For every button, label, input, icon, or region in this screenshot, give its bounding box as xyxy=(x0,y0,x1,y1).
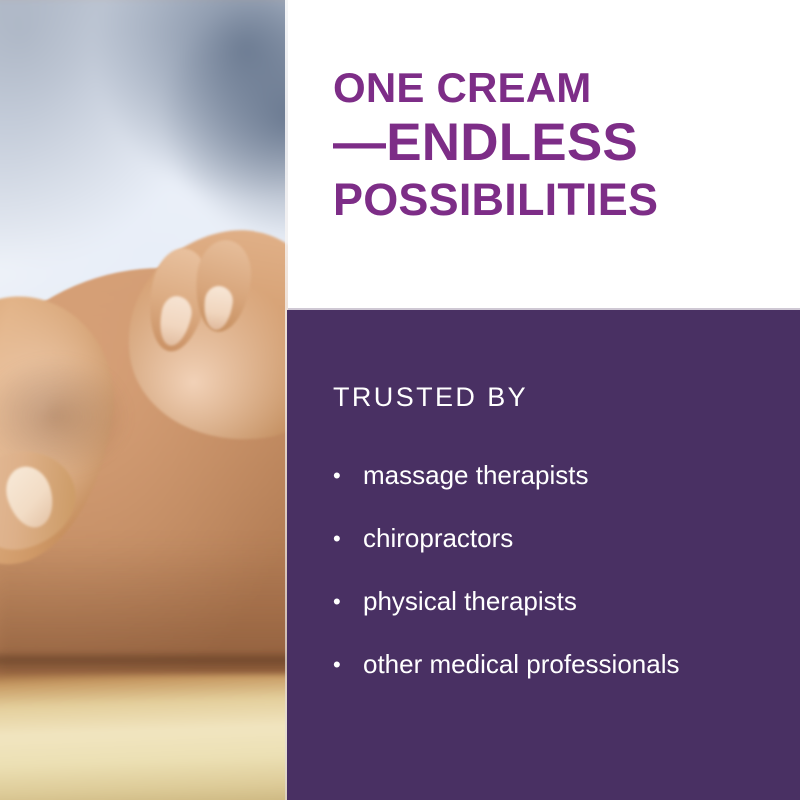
trusted-by-panel: TRUSTED BY • massage therapists • chirop… xyxy=(287,310,800,800)
bullet-icon: • xyxy=(333,591,363,613)
page-title: ONE CREAM —ENDLESS POSSIBILITIES xyxy=(333,64,763,226)
headline-line-1: ONE CREAM xyxy=(333,64,763,112)
list-item: • massage therapists xyxy=(333,444,783,507)
trusted-by-list: • massage therapists • chiropractors • p… xyxy=(333,444,783,696)
bullet-icon: • xyxy=(333,528,363,550)
list-item-label: other medical professionals xyxy=(363,649,783,680)
list-item-label: massage therapists xyxy=(363,460,783,491)
headline-panel: ONE CREAM —ENDLESS POSSIBILITIES xyxy=(288,0,800,310)
marketing-banner: ONE CREAM —ENDLESS POSSIBILITIES TRUSTED… xyxy=(0,0,800,800)
list-item: • other medical professionals xyxy=(333,633,783,696)
list-item-label: chiropractors xyxy=(363,523,783,554)
list-item: • physical therapists xyxy=(333,570,783,633)
massage-photo xyxy=(0,0,288,800)
list-item-label: physical therapists xyxy=(363,586,783,617)
bullet-icon: • xyxy=(333,465,363,487)
bullet-icon: • xyxy=(333,654,363,676)
headline-line-2: —ENDLESS xyxy=(333,114,763,172)
headline-line-3: POSSIBILITIES xyxy=(333,174,763,226)
list-item: • chiropractors xyxy=(333,507,783,570)
trusted-by-heading: TRUSTED BY xyxy=(333,382,528,413)
photo-massage-table xyxy=(0,674,288,800)
